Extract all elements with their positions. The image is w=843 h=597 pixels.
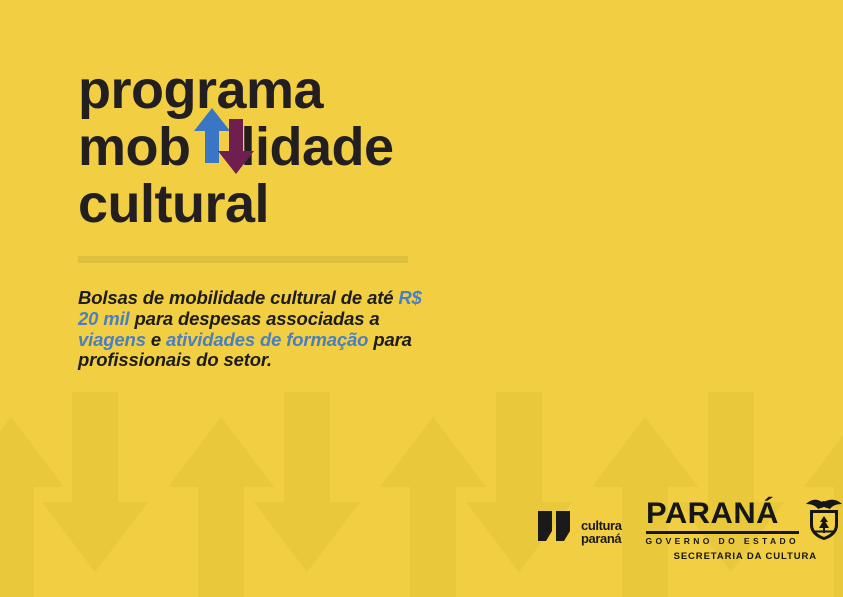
headline-line-2: moblidade xyxy=(78,119,498,176)
up-down-arrow-icon xyxy=(188,101,260,181)
subcopy-highlight-viagens: viagens xyxy=(78,329,146,350)
cultura-parana-line-2: paraná xyxy=(581,533,622,546)
poster-canvas: programa moblidade cultural Bolsas de mo… xyxy=(0,0,843,597)
parana-wordmark: PARANÁ xyxy=(646,499,804,529)
headline-line-1: programa xyxy=(78,62,498,119)
parana-coat-of-arms-icon xyxy=(803,495,843,546)
logo-bar: cultura paraná PARANÁ GOVERNO DO ESTADO xyxy=(536,495,843,562)
parana-subtitle: GOVERNO DO ESTADO xyxy=(646,536,800,546)
subcopy-paragraph: Bolsas de mobilidade cultural de até R$ … xyxy=(78,288,428,371)
subcopy-segment-5: e xyxy=(146,329,166,350)
governo-do-parana-logo[interactable]: PARANÁ GOVERNO DO ESTADO xyxy=(646,495,843,562)
cultura-parana-wordmark: cultura paraná xyxy=(581,520,622,548)
headline-line-3: cultural xyxy=(78,176,498,233)
headline-line-2-suffix: lidade xyxy=(241,117,394,177)
cultura-parana-logo[interactable]: cultura paraná xyxy=(536,509,622,548)
parana-department: SECRETARIA DA CULTURA xyxy=(646,551,843,562)
divider-rule xyxy=(78,256,408,263)
subcopy-highlight-formacao: atividades de formação xyxy=(166,329,368,350)
headline-line-2-prefix: mob xyxy=(78,117,191,177)
parana-rule xyxy=(646,531,800,534)
quote-mark-icon xyxy=(536,509,576,548)
subcopy-segment-1: Bolsas de mobilidade cultural de até xyxy=(78,287,398,308)
page-title: programa moblidade cultural xyxy=(78,62,498,233)
subcopy-segment-3: para despesas associadas a xyxy=(130,308,380,329)
